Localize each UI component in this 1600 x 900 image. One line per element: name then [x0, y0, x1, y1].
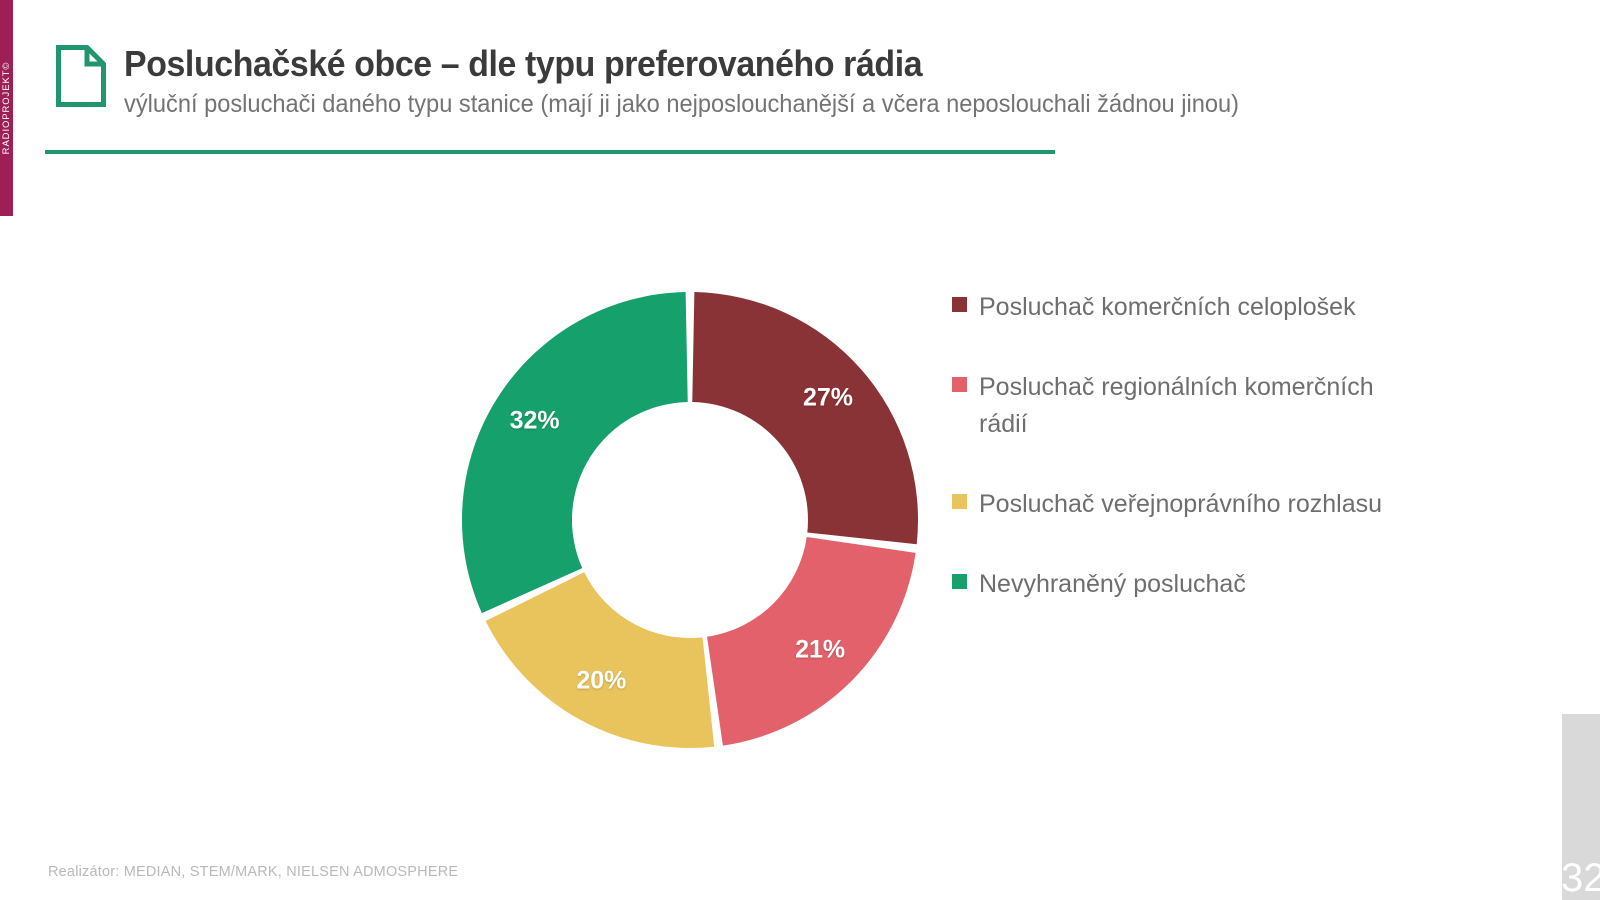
page-number-bar: 32 — [1562, 714, 1600, 900]
legend-item-label: Posluchač veřejnoprávního rozhlasu — [979, 486, 1382, 523]
donut-slice-label: 20% — [576, 667, 626, 696]
donut-slice-label: 32% — [510, 407, 560, 436]
page-number: 32 — [1561, 858, 1599, 898]
page-title: Posluchačské obce – dle typu preferované… — [124, 42, 1233, 86]
donut-slice[interactable] — [692, 292, 918, 544]
title-block: Posluchačské obce – dle typu preferované… — [124, 42, 1304, 120]
footer-source-note: Realizátor: MEDIAN, STEM/MARK, NIELSEN A… — [48, 864, 458, 880]
donut-slice[interactable] — [462, 292, 688, 613]
legend-item-label: Posluchač komerčních celoplošek — [979, 289, 1356, 326]
legend-item-label: Nevyhraněný posluchač — [979, 566, 1246, 603]
donut-chart: 27%21%20%32% — [430, 260, 950, 780]
donut-chart-svg — [430, 260, 950, 780]
legend-item[interactable]: Nevyhraněný posluchač — [952, 566, 1422, 603]
legend-item[interactable]: Posluchač komerčních celoplošek — [952, 289, 1422, 326]
slide-header: Posluchačské obce – dle typu preferované… — [0, 0, 1600, 170]
legend-color-swatch — [952, 377, 967, 392]
legend-color-swatch — [952, 494, 967, 509]
document-page-icon — [56, 45, 106, 107]
legend-item-label: Posluchač regionálních komerčních rádií — [979, 369, 1399, 443]
legend-color-swatch — [952, 297, 967, 312]
page-subtitle: výluční posluchači daného typu stanice (… — [124, 88, 1239, 120]
legend-color-swatch — [952, 574, 967, 589]
chart-legend: Posluchač komerčních celoplošekPosluchač… — [952, 289, 1422, 646]
donut-slice[interactable] — [486, 572, 715, 748]
legend-item[interactable]: Posluchač veřejnoprávního rozhlasu — [952, 486, 1422, 523]
legend-item[interactable]: Posluchač regionálních komerčních rádií — [952, 369, 1422, 443]
donut-slice-label: 27% — [803, 384, 853, 413]
donut-slice-label: 21% — [795, 636, 845, 665]
header-divider — [45, 150, 1055, 154]
